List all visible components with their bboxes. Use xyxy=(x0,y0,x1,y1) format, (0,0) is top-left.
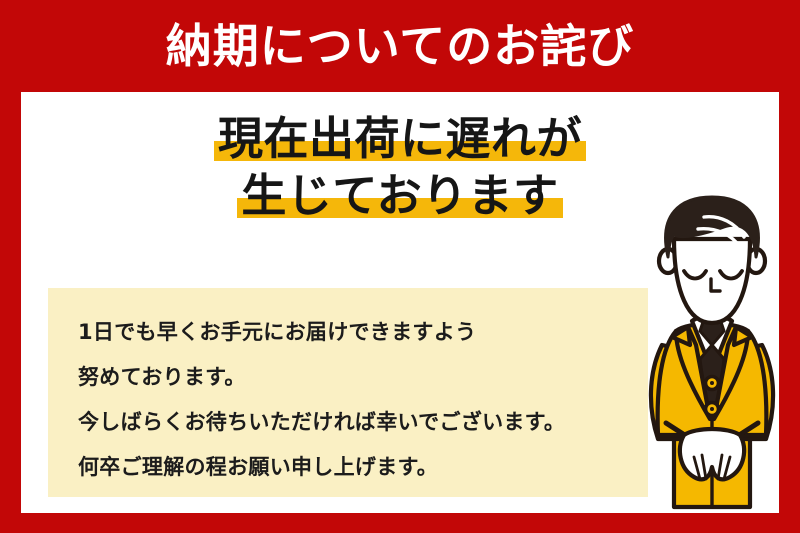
apology-poster: 納期についてのお詫び 現在出荷に遅れが 生じております 1日でも早くお手元にお届… xyxy=(0,0,800,533)
message-line-1: 1日でも早くお手元にお届けできますよう xyxy=(78,310,648,355)
headline-line-2-text: 生じております xyxy=(241,169,558,222)
message-line-4: 何卒ご理解の程お願い申し上げます。 xyxy=(78,445,648,490)
page-title: 納期についてのお詫び xyxy=(166,23,635,69)
headline-line-1-text: 現在出荷に遅れが xyxy=(218,112,582,165)
message-line-3: 今しばらくお待ちいただければ幸いでございます。 xyxy=(78,400,648,445)
inner-card: 現在出荷に遅れが 生じております 1日でも早くお手元にお届けできますよう 努めて… xyxy=(21,92,779,513)
headline-line-1: 現在出荷に遅れが xyxy=(214,112,586,167)
headline-line-2: 生じております xyxy=(237,169,562,224)
header-band: 納期についてのお詫び xyxy=(0,0,800,92)
message-panel: 1日でも早くお手元にお届けできますよう 努めております。 今しばらくお待ちいただ… xyxy=(48,288,648,497)
message-line-2: 努めております。 xyxy=(78,355,648,400)
bowing-person-illustration xyxy=(632,195,779,513)
